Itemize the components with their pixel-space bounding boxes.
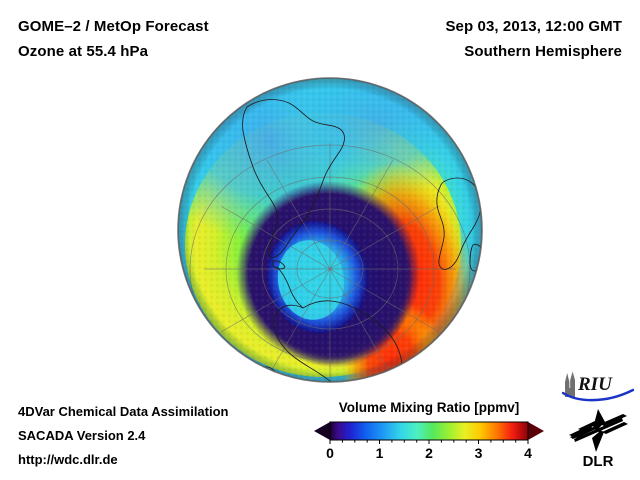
data-center-url[interactable]: http://wdc.dlr.de [18, 452, 118, 467]
dlr-wordmark: DLR [583, 453, 614, 470]
colorbar-ticks [330, 440, 528, 444]
cathedral-tower-icon [565, 372, 575, 398]
colorbar-cap-high [528, 422, 544, 440]
orthographic-projection-svg [177, 77, 483, 383]
riu-logo-svg: RIU [561, 371, 635, 404]
dlr-mark-icon [569, 409, 628, 452]
colorbar-tick-4: 4 [524, 445, 532, 461]
riu-wordmark: RIU [577, 374, 613, 395]
colorbar-tick-2: 2 [425, 445, 433, 461]
ozone-map-globe [177, 77, 483, 383]
colorbar-gradient [306, 419, 552, 445]
colorbar-title: Volume Mixing Ratio [ppmv] [306, 400, 552, 415]
colorbar: Volume Mixing Ratio [ppmv] [306, 400, 552, 470]
colorbar-cap-low [314, 422, 330, 440]
colorbar-tick-3: 3 [475, 445, 483, 461]
colorbar-tick-1: 1 [376, 445, 384, 461]
assimilation-method-label: 4DVar Chemical Data Assimilation [18, 404, 229, 419]
product-subtitle: Ozone at 55.4 hPa [18, 43, 148, 60]
instrument-title: GOME–2 / MetOp Forecast [18, 18, 209, 35]
riu-logo: RIU [561, 371, 635, 404]
dlr-logo: DLR [566, 408, 630, 470]
colorbar-tick-0: 0 [326, 445, 334, 461]
software-version-label: SACADA Version 2.4 [18, 428, 145, 443]
hemisphere-label: Southern Hemisphere [464, 43, 622, 60]
forecast-datetime: Sep 03, 2013, 12:00 GMT [445, 18, 622, 35]
colorbar-tick-labels: 0 1 2 3 4 [306, 445, 552, 467]
dlr-logo-svg: DLR [566, 408, 630, 470]
